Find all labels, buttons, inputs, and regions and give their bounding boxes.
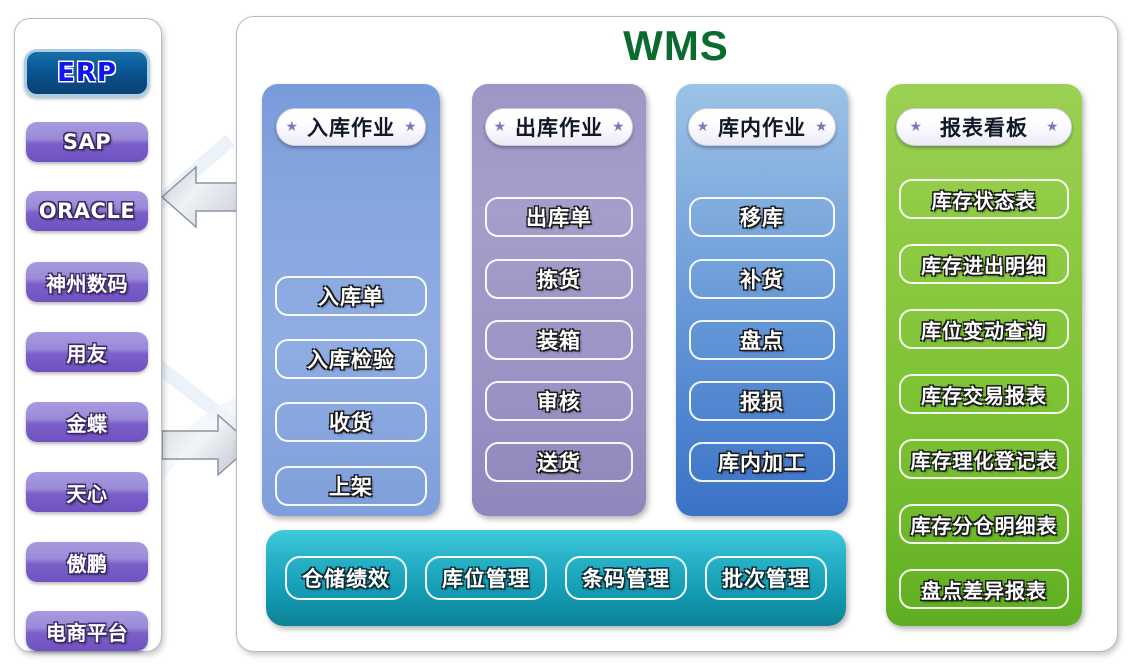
erp-sidebar-item-digital-china[interactable]: 神州数码 <box>26 262 148 302</box>
column-header-label: 报表看板 <box>940 112 1028 142</box>
bottom-item-batch-management[interactable]: 批次管理 <box>705 556 827 600</box>
column-header-label: 出库作业 <box>515 112 603 142</box>
star-icon: ★ <box>909 120 922 134</box>
erp-sidebar-panel: ERP SAP ORACLE 神州数码 用友 金蝶 天心 傲鹏 电商平台 <box>14 18 162 652</box>
column-inbound: ★ 入库作业 ★ 入库单 入库检验 收货 上架 <box>262 84 440 516</box>
column-in-warehouse: ★ 库内作业 ★ 移库 补货 盘点 报损 库内加工 <box>676 84 848 516</box>
column-item-stock-movement-detail[interactable]: 库存进出明细 <box>899 244 1069 284</box>
page-title: WMS <box>236 22 1116 70</box>
column-header-inbound: ★ 入库作业 ★ <box>276 108 426 146</box>
column-item-stocktake-variance-report[interactable]: 盘点差异报表 <box>899 569 1069 609</box>
erp-sidebar-item-oracle[interactable]: ORACLE <box>26 191 148 231</box>
erp-sidebar-item-ecommerce-platform[interactable]: 电商平台 <box>26 611 148 651</box>
erp-sidebar-item-yonyou[interactable]: 用友 <box>26 332 148 372</box>
column-header-label: 库内作业 <box>718 112 806 142</box>
column-item-stocktake[interactable]: 盘点 <box>689 320 835 360</box>
column-header-label: 入库作业 <box>307 112 395 142</box>
column-outbound: ★ 出库作业 ★ 出库单 拣货 装箱 审核 送货 <box>472 84 646 516</box>
column-item-transfer[interactable]: 移库 <box>689 197 835 237</box>
column-item-inbound-inspection[interactable]: 入库检验 <box>275 339 427 379</box>
column-item-stock-status-report[interactable]: 库存状态表 <box>899 179 1069 219</box>
column-item-receiving[interactable]: 收货 <box>275 402 427 442</box>
column-item-packing[interactable]: 装箱 <box>485 320 633 360</box>
erp-sidebar-item-aopeng[interactable]: 傲鹏 <box>26 542 148 582</box>
bottom-item-warehouse-performance[interactable]: 仓储绩效 <box>285 556 407 600</box>
column-item-vas-processing[interactable]: 库内加工 <box>689 442 835 482</box>
column-item-stock-by-warehouse-detail[interactable]: 库存分仓明细表 <box>899 504 1069 544</box>
column-item-damage-report[interactable]: 报损 <box>689 381 835 421</box>
column-header-outbound: ★ 出库作业 ★ <box>485 108 633 146</box>
column-item-replenishment[interactable]: 补货 <box>689 259 835 299</box>
column-item-delivery[interactable]: 送货 <box>485 442 633 482</box>
column-item-picking[interactable]: 拣货 <box>485 259 633 299</box>
erp-sidebar-item-erp[interactable]: ERP <box>24 49 150 97</box>
bottom-support-bar: 仓储绩效 库位管理 条码管理 批次管理 <box>266 530 846 626</box>
column-item-location-change-query[interactable]: 库位变动查询 <box>899 309 1069 349</box>
star-icon: ★ <box>696 120 709 134</box>
column-item-review[interactable]: 审核 <box>485 381 633 421</box>
star-icon: ★ <box>493 120 506 134</box>
star-icon: ★ <box>404 120 417 134</box>
bottom-item-location-management[interactable]: 库位管理 <box>425 556 547 600</box>
column-item-putaway[interactable]: 上架 <box>275 466 427 506</box>
erp-sidebar-item-sap[interactable]: SAP <box>26 122 148 162</box>
column-header-report-dashboard: ★ 报表看板 ★ <box>896 108 1072 146</box>
erp-sidebar-item-kingdee[interactable]: 金蝶 <box>26 402 148 442</box>
erp-sidebar-item-tianxin[interactable]: 天心 <box>26 472 148 512</box>
star-icon: ★ <box>285 120 298 134</box>
column-report-dashboard: ★ 报表看板 ★ 库存状态表 库存进出明细 库位变动查询 库存交易报表 库存理化… <box>886 84 1082 626</box>
bottom-item-barcode-management[interactable]: 条码管理 <box>565 556 687 600</box>
column-item-inbound-order[interactable]: 入库单 <box>275 276 427 316</box>
column-item-stock-transaction-report[interactable]: 库存交易报表 <box>899 374 1069 414</box>
star-icon: ★ <box>815 120 828 134</box>
column-item-stock-handling-register[interactable]: 库存理化登记表 <box>899 439 1069 479</box>
column-item-outbound-order[interactable]: 出库单 <box>485 197 633 237</box>
star-icon: ★ <box>1046 120 1059 134</box>
star-icon: ★ <box>612 120 625 134</box>
column-header-in-warehouse: ★ 库内作业 ★ <box>688 108 836 146</box>
